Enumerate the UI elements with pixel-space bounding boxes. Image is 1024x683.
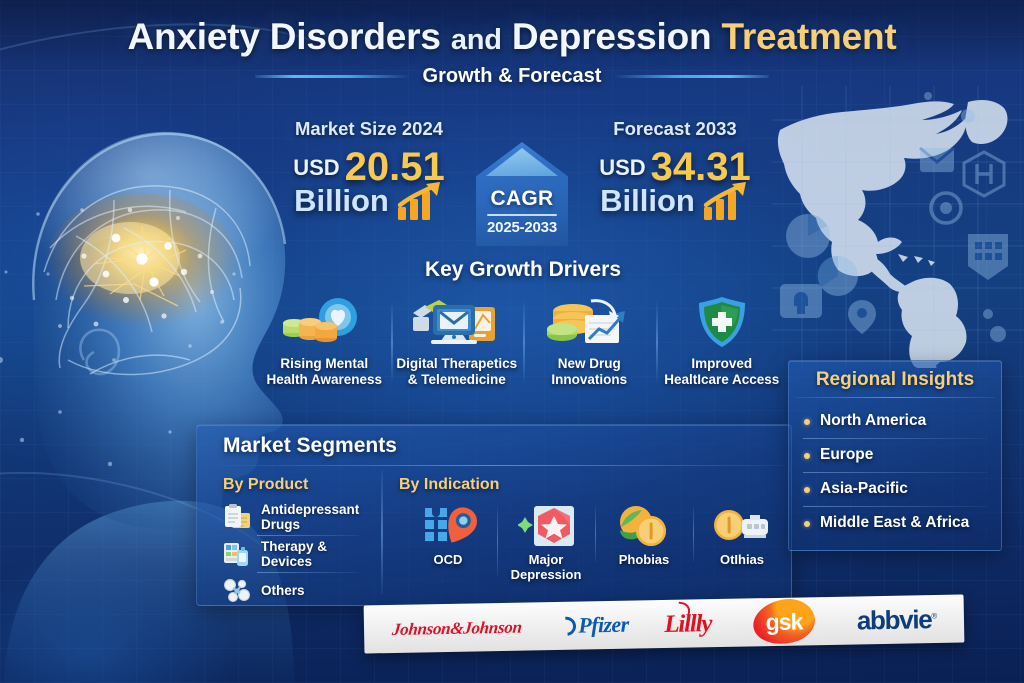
monitor-mail-mobile-icon: [395, 296, 520, 348]
bullet-dot-icon: [804, 487, 810, 493]
list-item: Middle East & Africa: [803, 506, 991, 540]
drivers-heading: Key Growth Drivers: [258, 258, 788, 282]
molecule-icon: [223, 576, 252, 605]
driver-label-line1: Digital Therapetics: [396, 356, 517, 371]
title-part-2: Depression: [512, 16, 712, 57]
indication-item-label: OtIhias: [695, 553, 789, 568]
lilly-hook-icon: [677, 601, 692, 614]
market-segments-title: Market Segments: [197, 425, 791, 465]
driver-label-line2: Health Awareness: [266, 372, 382, 387]
driver-label-line1: Rising Mental: [280, 356, 368, 371]
registered-mark: ®: [931, 611, 936, 620]
logo-johnson-and-johnson: Johnson&Johnson: [392, 618, 522, 637]
cagr-period: 2025-2033: [476, 219, 568, 236]
pill-coins-icon: [597, 504, 691, 548]
clipboard-notes-icon: [223, 503, 252, 532]
key-growth-drivers-section: Key Growth Drivers Rising Menta: [258, 258, 788, 388]
kpi-market-size-2024: Market Size 2024 USD 20.51 Billion: [264, 116, 474, 221]
driver-label-line1: Improved: [691, 356, 752, 371]
region-label: Middle East & Africa: [820, 514, 969, 531]
shield-plus-icon: [660, 296, 785, 348]
driver-card-rising-mental-health-awareness: Rising Mental Health Awareness: [258, 296, 391, 388]
driver-label-line2: Innovations: [551, 372, 627, 387]
driver-card-label: New Drug Innovations: [527, 356, 652, 388]
product-item-therapy-devices: Therapy & Devices: [223, 535, 381, 572]
kpi-left-currency: USD: [293, 155, 339, 186]
region-label: Asia-Pacific: [820, 480, 908, 497]
page-title: Anxiety Disorders and Depression Treatme…: [0, 18, 1024, 56]
subtitle-row: Growth & Forecast: [0, 65, 1024, 88]
cagr-badge: CAGR 2025-2033: [476, 142, 568, 246]
indication-item-phobias: Phobias: [595, 504, 693, 568]
logo-abbvie: abbvie®: [857, 606, 937, 633]
product-item-label: Therapy & Devices: [261, 539, 327, 569]
by-indication-heading: By Indication: [399, 476, 791, 494]
growth-arrow-bars-icon: [702, 181, 750, 221]
cagr-divider: [487, 214, 557, 216]
logo-pfizer: Pfizer: [557, 614, 629, 637]
pfizer-swirl-icon: [554, 612, 581, 639]
by-product-heading: By Product: [223, 476, 381, 494]
driver-card-label: Rising Mental Health Awareness: [262, 356, 387, 388]
logo-lilly: Lillly: [664, 611, 711, 637]
title-conjunction: and: [451, 24, 502, 56]
list-item: North America: [803, 404, 991, 438]
driver-card-label: Digital Therapetics & Telemedicine: [395, 356, 520, 388]
infographic-canvas: Anxiety Disorders and Depression Treatme…: [0, 0, 1024, 683]
list-item: Europe: [803, 438, 991, 472]
kpi-left-label: Market Size 2024: [285, 116, 453, 142]
indication-item-label: Phobias: [597, 553, 691, 568]
regional-insights-title: Regional Insights: [789, 361, 1001, 397]
bullet-dot-icon: [804, 453, 810, 459]
cagr-label: CAGR: [476, 187, 568, 211]
indication-item-otihias: OtIhias: [693, 504, 791, 568]
indication-item-ocd: OCD: [399, 504, 497, 568]
driver-card-improved-healthcare-access: Improved HealtIcare Access: [656, 296, 789, 388]
world-map-americas: [772, 86, 1024, 368]
pill-device-icon: [695, 504, 789, 548]
driver-label-line1: New Drug: [558, 356, 621, 371]
product-item-antidepressant-drugs: Antidepressant Drugs: [223, 498, 381, 535]
kpi-right-currency: USD: [599, 155, 645, 186]
regional-list: North America Europe Asia-Pacific Middle…: [789, 398, 1001, 550]
kpi-row: Market Size 2024 USD 20.51 Billion: [264, 116, 780, 244]
coins-heart-icon: [262, 296, 387, 348]
driver-label-line2: HealtIcare Access: [664, 372, 779, 387]
title-highlight: Treatment: [722, 16, 897, 57]
regional-insights-panel: Regional Insights North America Europe A…: [788, 360, 1002, 551]
page-subtitle: Growth & Forecast: [423, 65, 602, 88]
indication-item-major-depression: Major Depression: [497, 504, 595, 583]
kpi-right-unit: Billion: [600, 183, 695, 219]
puzzle-pin-icon: [401, 504, 495, 548]
subtitle-rule-right: [614, 75, 769, 78]
region-label: North America: [820, 412, 926, 429]
logo-gsk: gsk: [747, 599, 822, 644]
title-part-1: Anxiety Disorders: [127, 16, 440, 57]
driver-label-line2: & Telemedicine: [408, 372, 506, 387]
product-item-label: Others: [261, 583, 305, 598]
kpi-forecast-2033: Forecast 2033 USD 34.31 Billion: [570, 116, 780, 221]
by-product-column: By Product: [197, 466, 381, 600]
product-item-others: Others: [223, 572, 381, 608]
list-item: Asia-Pacific: [803, 472, 991, 506]
indication-item-label: Major Depression: [499, 553, 593, 583]
coins-chart-growth-icon: [527, 296, 652, 348]
driver-card-digital-therapeutics-telemedicine: Digital Therapetics & Telemedicine: [391, 296, 524, 388]
kpi-right-label: Forecast 2033: [603, 116, 746, 142]
driver-card-new-drug-innovations: New Drug Innovations: [523, 296, 656, 388]
region-label: Europe: [820, 446, 873, 463]
bullet-dot-icon: [804, 419, 810, 425]
kpi-left-unit: Billion: [294, 183, 389, 219]
header: Anxiety Disorders and Depression Treatme…: [0, 18, 1024, 88]
star-badge-icon: [499, 504, 593, 548]
by-indication-column: By Indication: [381, 466, 791, 600]
market-segments-panel: Market Segments By Product: [196, 424, 792, 606]
subtitle-rule-left: [255, 75, 410, 78]
devices-kit-icon: [223, 540, 252, 569]
product-item-label: Antidepressant Drugs: [261, 502, 359, 532]
indication-item-label: OCD: [401, 553, 495, 568]
growth-arrow-bars-icon: [396, 181, 444, 221]
bullet-dot-icon: [804, 521, 810, 527]
driver-card-label: Improved HealtIcare Access: [660, 356, 785, 388]
